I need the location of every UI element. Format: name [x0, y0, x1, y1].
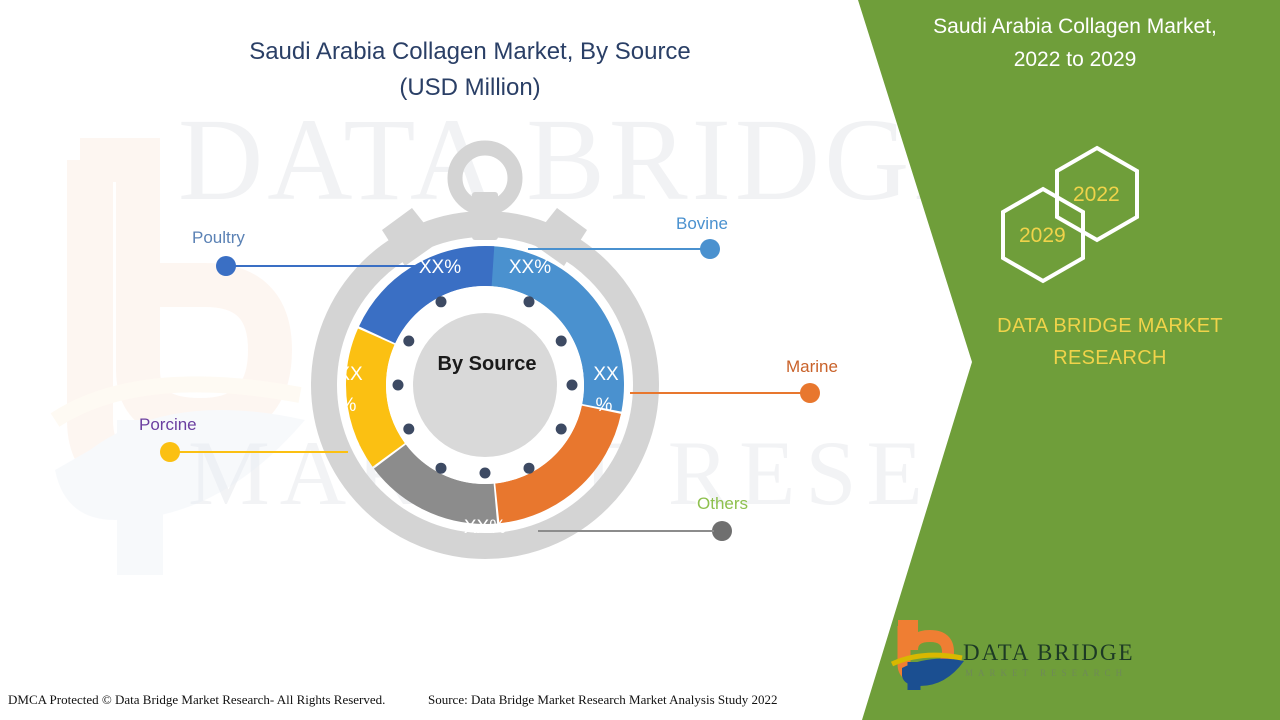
page-title-line1: Saudi Arabia Collagen Market, By Source: [150, 34, 790, 70]
page-title: Saudi Arabia Collagen Market, By Source …: [150, 34, 790, 106]
brand-name-line2: RESEARCH: [940, 342, 1280, 374]
callout-line-poultry: [234, 265, 424, 267]
donut-center-disc: [413, 313, 557, 457]
callout-label-marine: Marine: [786, 357, 838, 377]
callout-line-bovine: [528, 248, 702, 250]
brand-name: DATA BRIDGE MARKET RESEARCH: [940, 310, 1280, 374]
callout-line-others: [538, 530, 714, 532]
callout-dot-bovine[interactable]: [700, 239, 720, 259]
page-title-line2: (USD Million): [150, 70, 790, 106]
hex-year-2029: 2029: [1019, 224, 1066, 248]
brand-name-line1: DATA BRIDGE MARKET: [940, 310, 1280, 342]
callout-label-bovine: Bovine: [676, 214, 728, 234]
panel-title-line2: 2022 to 2029: [890, 43, 1260, 76]
segment-label-marine-line2: %: [596, 395, 613, 416]
callout-dot-porcine[interactable]: [160, 442, 180, 462]
callout-dot-others[interactable]: [712, 521, 732, 541]
callout-label-poultry: Poultry: [192, 228, 245, 248]
footer-copyright: DMCA Protected © Data Bridge Market Rese…: [8, 692, 385, 708]
callout-line-marine: [630, 392, 802, 394]
callout-dot-marine[interactable]: [800, 383, 820, 403]
hex-year-2022: 2022: [1073, 183, 1120, 207]
segment-label-bovine: XX%: [509, 257, 551, 278]
logo-wordmark: DATA BRIDGE: [963, 640, 1135, 666]
donut-chart: XX% XX% XX % XX % XX% By Source: [287, 130, 687, 570]
panel-title-line1: Saudi Arabia Collagen Market,: [890, 10, 1260, 43]
footer-source: Source: Data Bridge Market Research Mark…: [428, 692, 777, 708]
panel-title: Saudi Arabia Collagen Market, 2022 to 20…: [890, 10, 1260, 76]
callout-line-porcine: [178, 451, 348, 453]
segment-label-poultry: XX%: [419, 257, 461, 278]
segment-label-others: XX%: [464, 517, 506, 538]
callout-label-others: Others: [697, 494, 748, 514]
callout-dot-poultry[interactable]: [216, 256, 236, 276]
segment-label-marine-line1: XX: [593, 364, 619, 385]
segment-label-porcine-line2: %: [340, 395, 357, 416]
slide-canvas: DATA BRIDGE MARKET RESEARCH Saudi Arabia…: [0, 0, 1280, 720]
segment-label-porcine-line1: XX: [337, 364, 363, 385]
hexagon-years-group: 2022 2029: [985, 145, 1185, 285]
logo-subtitle: MARKET RESEARCH: [965, 668, 1127, 678]
callout-label-porcine: Porcine: [139, 415, 197, 435]
